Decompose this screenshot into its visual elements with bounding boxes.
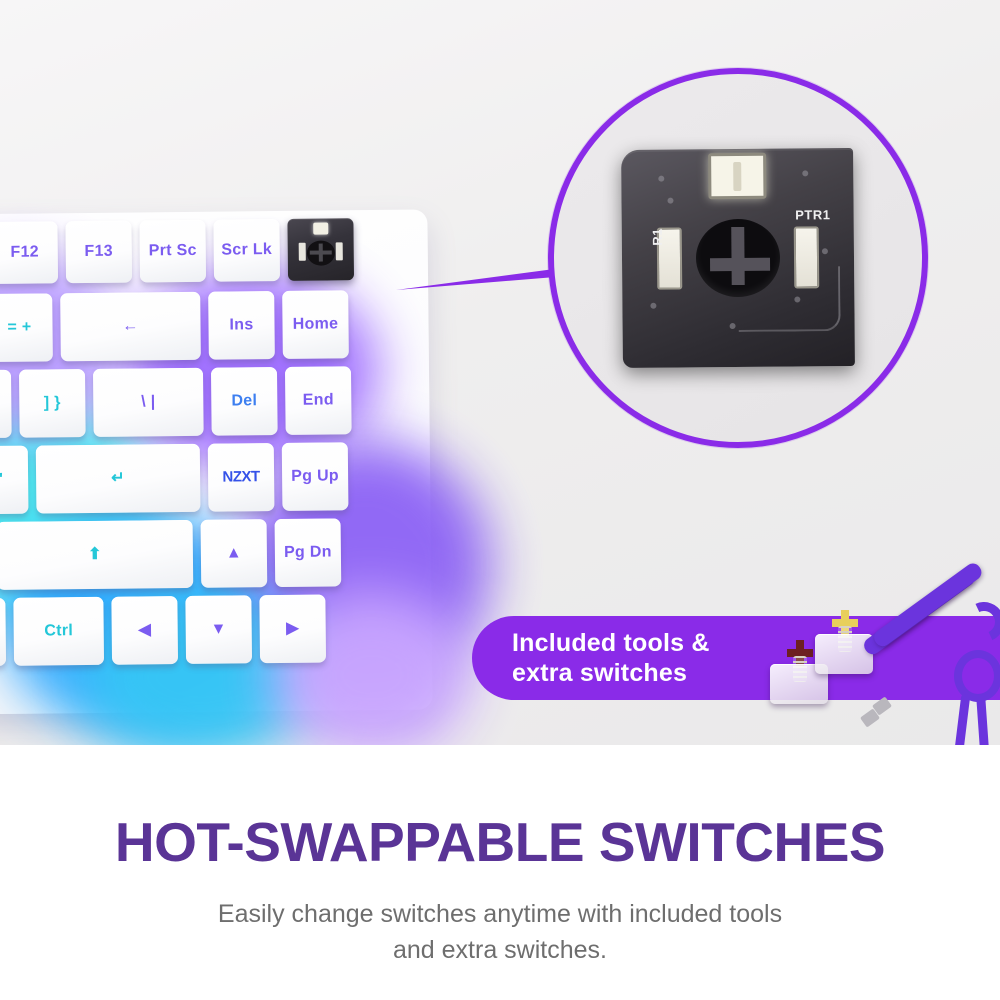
keycap[interactable]: NZXT [208,443,275,512]
keycap[interactable]: ← [60,292,201,361]
magnifier-circle: R1 PTR1 [548,68,928,448]
keycap[interactable]: [ { [0,370,12,439]
keycap[interactable]: ◀ [111,596,178,665]
exposed-hotswap-socket[interactable] [287,218,354,281]
keycap[interactable]: Scr Lk [213,219,280,282]
keycap[interactable]: F12 [0,221,58,284]
keycap[interactable]: Home [282,290,349,359]
bottom-text-section: HOT-SWAPPABLE SWITCHES Easily change swi… [0,745,1000,1000]
led-icon [313,222,328,235]
keycap[interactable]: Pg Dn [275,518,342,587]
keycap[interactable]: ⬆ [0,520,193,590]
keycap[interactable]: Pg Up [282,442,349,511]
subtitle: Easily change switches anytime with incl… [218,896,782,969]
puller-bend [958,596,1000,647]
keyboard-photo: 11F12F13Prt ScScr Lk—= +←InsHome[ {] }\ … [0,209,433,724]
keycap[interactable]: ▶ [259,595,326,664]
keycap[interactable]: Prt Sc [139,220,206,283]
headline: HOT-SWAPPABLE SWITCHES [115,810,885,874]
keycap[interactable]: Del [211,367,278,436]
keycap[interactable]: End [285,366,352,435]
keycap-puller-tool [940,650,1000,745]
keycap[interactable]: F13 [65,221,132,284]
keycap-layer: 11F12F13Prt ScScr Lk—= +←InsHome[ {] }\ … [0,209,433,714]
keycap[interactable]: ] } [19,369,86,438]
hero-panel: 11F12F13Prt ScScr Lk—= +←InsHome[ {] }\ … [0,0,1000,745]
keycap[interactable]: ▲ [201,519,268,588]
keycap[interactable]: Ctrl [13,597,104,666]
keycap[interactable]: Ins [208,291,275,360]
puller-leg [955,694,971,745]
keycap[interactable]: ' " [0,446,28,515]
switch-socket-plate: R1 PTR1 [621,148,855,368]
keycap[interactable]: ↵ [36,444,201,514]
socket-pin-left [299,242,306,261]
pcb-vias [621,148,855,368]
keycap[interactable]: ▼ [185,595,252,664]
keycap[interactable]: = + [0,293,53,362]
puller-arm [871,560,985,649]
badge-label: Included tools & extra switches [512,628,710,689]
keycap[interactable]: \ | [93,368,204,437]
keycap[interactable]: Fn [0,598,6,667]
socket-pin-right [335,242,342,261]
puller-leg [976,694,989,745]
